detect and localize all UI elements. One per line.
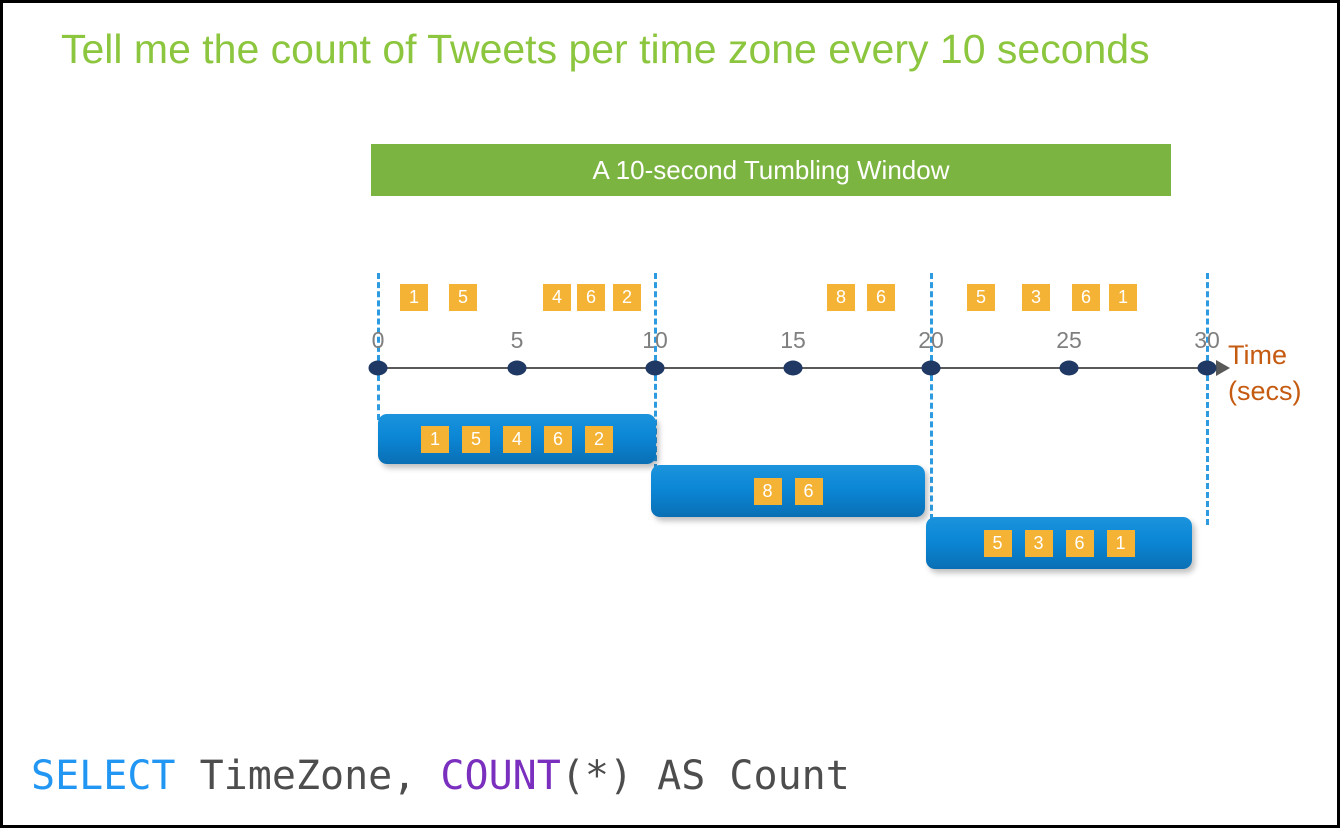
timeline-event-tile: 2 [613, 284, 641, 311]
axis-tick-label-15: 15 [780, 327, 806, 354]
window-aggregated-tile: 6 [544, 426, 572, 453]
timeline-event-tile: 1 [400, 284, 428, 311]
timeline-event-tile: 8 [827, 284, 855, 311]
sql-token: SELECT [31, 753, 176, 799]
axis-tick-label-30: 30 [1194, 327, 1220, 354]
time-axis-label: Time (secs) [1228, 337, 1302, 409]
window-aggregated-tile: 1 [421, 426, 449, 453]
tumbling-window-bar: 86 [651, 465, 925, 517]
axis-tick-label-5: 5 [511, 327, 524, 354]
slide-canvas: Tell me the count of Tweets per time zon… [0, 0, 1340, 828]
timeline-event-tile: 4 [543, 284, 571, 311]
timeline-event-tile: 6 [577, 284, 605, 311]
timeline-event-tile: 5 [449, 284, 477, 311]
sql-query-block: SELECT TimeZone, COUNT(*) AS Count FROM … [31, 631, 1091, 828]
sql-token: TimeZone, [176, 753, 441, 799]
timeline-event-tile: 5 [967, 284, 995, 311]
axis-tick-label-0: 0 [372, 327, 385, 354]
tumbling-window-bar: 15462 [378, 414, 656, 464]
axis-tick-label-25: 25 [1056, 327, 1082, 354]
timeline-event-tile: 6 [1072, 284, 1100, 311]
window-boundary-line-bottom-2 [930, 375, 933, 520]
tumbling-window-bar: 5361 [926, 517, 1192, 569]
axis-tick-dot-30 [1198, 361, 1217, 376]
window-boundary-line-bottom-3 [1206, 375, 1209, 525]
time-axis-label-line2: (secs) [1228, 373, 1302, 409]
axis-tick-dot-15 [784, 361, 803, 376]
window-aggregated-tile: 6 [795, 478, 823, 505]
window-aggregated-tile: 1 [1107, 530, 1135, 557]
timeline-event-tile: 1 [1109, 284, 1137, 311]
window-aggregated-tile: 5 [462, 426, 490, 453]
window-aggregated-tile: 8 [754, 478, 782, 505]
axis-tick-dot-10 [646, 361, 665, 376]
timeline-event-tile: 3 [1022, 284, 1050, 311]
sql-token: COUNT [440, 753, 560, 799]
axis-tick-label-10: 10 [642, 327, 668, 354]
time-axis-label-line1: Time [1228, 340, 1287, 370]
window-aggregated-tile: 4 [503, 426, 531, 453]
axis-tick-label-20: 20 [918, 327, 944, 354]
axis-tick-dot-5 [508, 361, 527, 376]
window-aggregated-tile: 6 [1066, 530, 1094, 557]
window-boundary-line-bottom-0 [377, 375, 380, 420]
axis-tick-dot-0 [369, 361, 388, 376]
axis-tick-dot-20 [922, 361, 941, 376]
sql-token: (*) AS Count [561, 753, 850, 799]
sql-line-1: SELECT TimeZone, COUNT(*) AS Count [31, 747, 1091, 805]
axis-tick-dot-25 [1060, 361, 1079, 376]
window-aggregated-tile: 2 [585, 426, 613, 453]
window-aggregated-tile: 5 [984, 530, 1012, 557]
window-aggregated-tile: 3 [1025, 530, 1053, 557]
timeline-event-tile: 6 [867, 284, 895, 311]
